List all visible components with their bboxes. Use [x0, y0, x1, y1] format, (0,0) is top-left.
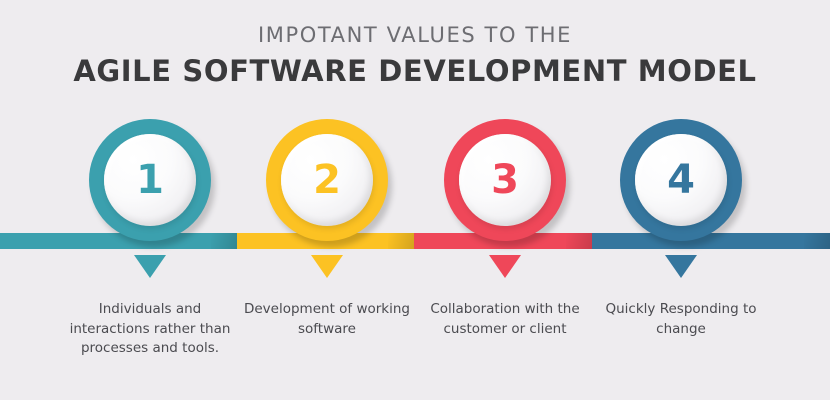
step-4-number: 4	[635, 134, 727, 226]
step-1-pointer-triangle-icon	[134, 255, 166, 278]
step-3-pointer-triangle-icon	[489, 255, 521, 278]
step-2-number: 2	[281, 134, 373, 226]
step-3[interactable]: 3Collaboration with the customer or clie…	[415, 0, 595, 400]
step-3-caption: Collaboration with the customer or clien…	[415, 300, 595, 339]
step-1[interactable]: 1Individuals and interactions rather tha…	[60, 0, 240, 400]
step-2[interactable]: 2Development of working software	[237, 0, 417, 400]
step-2-caption: Development of working software	[237, 300, 417, 339]
step-3-number: 3	[459, 134, 551, 226]
infographic-canvas: IMPOTANT VALUES TO THE AGILE SOFTWARE DE…	[0, 0, 830, 400]
step-4-caption: Quickly Responding to change	[591, 300, 771, 339]
step-4-pointer-triangle-icon	[665, 255, 697, 278]
step-1-caption: Individuals and interactions rather than…	[60, 300, 240, 359]
steps-container: 1Individuals and interactions rather tha…	[0, 0, 830, 400]
step-1-number: 1	[104, 134, 196, 226]
step-2-pointer-triangle-icon	[311, 255, 343, 278]
step-4[interactable]: 4Quickly Responding to change	[591, 0, 771, 400]
